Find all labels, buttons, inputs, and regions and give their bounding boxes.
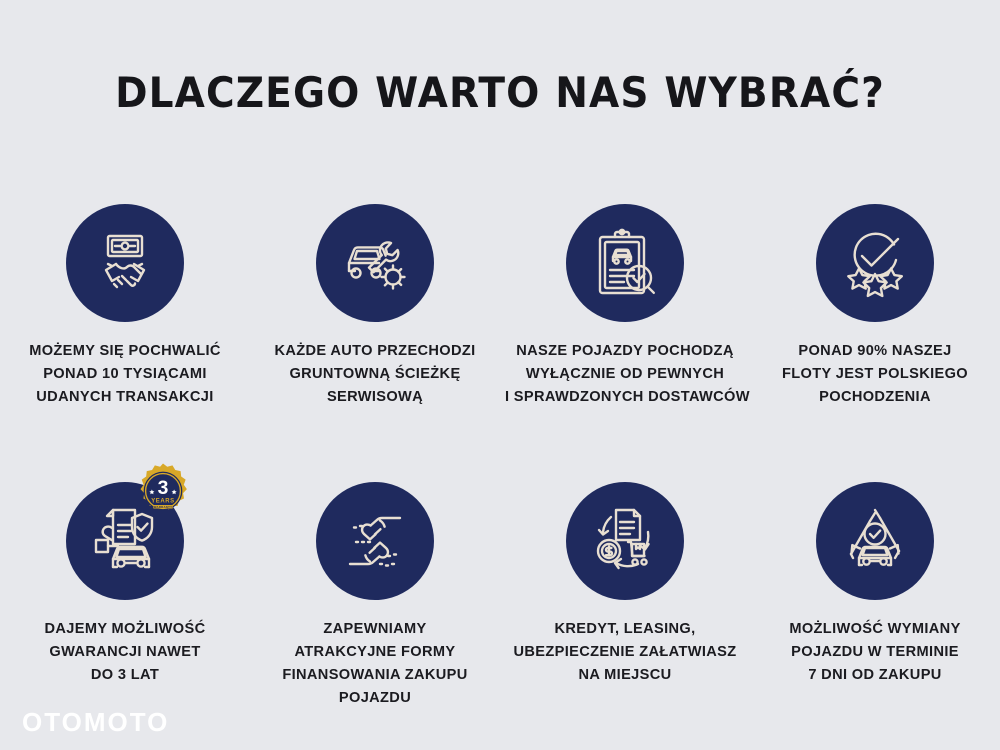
feature-card-2: KAŻDE AUTO PRZECHODZI GRUNTOWNĄ ŚCIEŻKĘ … (250, 200, 500, 409)
feature-card-8: MOŻLIWOŚĆ WYMIANY POJAZDU W TERMINIE 7 D… (750, 478, 1000, 710)
caption-line: PONAD 10 TYSIĄCAMI (5, 363, 245, 386)
hands-money-exchange-icon (316, 482, 434, 600)
caption-line: 7 DNI OD ZAKUPU (755, 664, 995, 687)
caption-line: DO 3 LAT (5, 664, 245, 687)
car-service-wrench-gear-icon (316, 204, 434, 322)
feature-7-icon-wrap (562, 478, 688, 604)
caption-line: MOŻEMY SIĘ POCHWALIĆ (5, 340, 245, 363)
caption-line: GRUNTOWNĄ ŚCIEŻKĘ (255, 363, 495, 386)
feature-1-icon-wrap (62, 200, 188, 326)
warranty-3-years-badge: 3 YEARS WARRANTY (134, 462, 192, 520)
caption-line: DAJEMY MOŻLIWOŚĆ (5, 618, 245, 641)
caption-line: PONAD 90% NASZEJ (755, 340, 995, 363)
caption-line: ATRAKCYJNE FORMY (255, 641, 495, 664)
svg-text:YEARS: YEARS (151, 499, 175, 505)
caption-line: SERWISOWĄ (255, 386, 495, 409)
feature-3-caption: NASZE POJAZDY POCHODZĄ WYŁĄCZNIE OD PEWN… (505, 340, 745, 409)
caption-line: FLOTY JEST POLSKIEGO (755, 363, 995, 386)
feature-card-7: KREDYT, LEASING, UBEZPIECZENIE ZAŁATWIAS… (500, 478, 750, 710)
feature-6-icon-wrap (312, 478, 438, 604)
caption-line: I SPRAWDZONYCH DOSTAWCÓW (505, 386, 745, 409)
caption-line: WYŁĄCZNIE OD PEWNYCH (505, 363, 745, 386)
feature-2-caption: KAŻDE AUTO PRZECHODZI GRUNTOWNĄ ŚCIEŻKĘ … (255, 340, 495, 409)
feature-card-5: 3 YEARS WARRANTY DAJEMY MOŻLIWOŚĆ GWARAN… (0, 478, 250, 710)
caption-line: POCHODZENIA (755, 386, 995, 409)
caption-line: NASZE POJAZDY POCHODZĄ (505, 340, 745, 363)
feature-3-icon-wrap (562, 200, 688, 326)
otomoto-logo: OTOMOTO (22, 707, 169, 738)
caption-line: GWARANCJI NAWET (5, 641, 245, 664)
car-exchange-return-icon (816, 482, 934, 600)
caption-line: UBEZPIECZENIE ZAŁATWIASZ (505, 641, 745, 664)
clipboard-car-inspection-icon (566, 204, 684, 322)
feature-4-icon-wrap (812, 200, 938, 326)
check-stars-quality-icon (816, 204, 934, 322)
feature-card-6: ZAPEWNIAMY ATRAKCYJNE FORMY FINANSOWANIA… (250, 478, 500, 710)
feature-1-caption: MOŻEMY SIĘ POCHWALIĆ PONAD 10 TYSIĄCAMI … (5, 340, 245, 409)
otomoto-wordmark: OTOMOTO (22, 707, 169, 738)
feature-card-3: NASZE POJAZDY POCHODZĄ WYŁĄCZNIE OD PEWN… (500, 200, 750, 409)
feature-8-icon-wrap (812, 478, 938, 604)
feature-card-1: MOŻEMY SIĘ POCHWALIĆ PONAD 10 TYSIĄCAMI … (0, 200, 250, 409)
caption-line: ZAPEWNIAMY (255, 618, 495, 641)
handshake-money-icon (66, 204, 184, 322)
features-grid: MOŻEMY SIĘ POCHWALIĆ PONAD 10 TYSIĄCAMI … (0, 200, 1000, 710)
page-title: DLACZEGO WARTO NAS WYBRAĆ? (35, 68, 965, 117)
caption-line: POJAZDU W TERMINIE (755, 641, 995, 664)
caption-line: KREDYT, LEASING, (505, 618, 745, 641)
feature-4-caption: PONAD 90% NASZEJ FLOTY JEST POLSKIEGO PO… (755, 340, 995, 409)
svg-text:WARRANTY: WARRANTY (154, 505, 172, 509)
caption-line: POJAZDU (255, 687, 495, 710)
feature-8-caption: MOŻLIWOŚĆ WYMIANY POJAZDU W TERMINIE 7 D… (755, 618, 995, 687)
feature-5-icon-wrap: 3 YEARS WARRANTY (62, 478, 188, 604)
feature-card-4: PONAD 90% NASZEJ FLOTY JEST POLSKIEGO PO… (750, 200, 1000, 409)
svg-text:3: 3 (158, 478, 169, 499)
caption-line: NA MIEJSCU (505, 664, 745, 687)
infographic-page: DLACZEGO WARTO NAS WYBRAĆ? (0, 0, 1000, 750)
feature-2-icon-wrap (312, 200, 438, 326)
features-row-1: MOŻEMY SIĘ POCHWALIĆ PONAD 10 TYSIĄCAMI … (0, 200, 1000, 409)
features-row-2: 3 YEARS WARRANTY DAJEMY MOŻLIWOŚĆ GWARAN… (0, 478, 1000, 710)
caption-line: UDANYCH TRANSAKCJI (5, 386, 245, 409)
feature-5-caption: DAJEMY MOŻLIWOŚĆ GWARANCJI NAWET DO 3 LA… (5, 618, 245, 687)
feature-7-caption: KREDYT, LEASING, UBEZPIECZENIE ZAŁATWIAS… (505, 618, 745, 687)
caption-line: FINANSOWANIA ZAKUPU (255, 664, 495, 687)
finance-cycle-document-coin-cart-icon (566, 482, 684, 600)
feature-6-caption: ZAPEWNIAMY ATRAKCYJNE FORMY FINANSOWANIA… (255, 618, 495, 710)
caption-line: MOŻLIWOŚĆ WYMIANY (755, 618, 995, 641)
caption-line: KAŻDE AUTO PRZECHODZI (255, 340, 495, 363)
